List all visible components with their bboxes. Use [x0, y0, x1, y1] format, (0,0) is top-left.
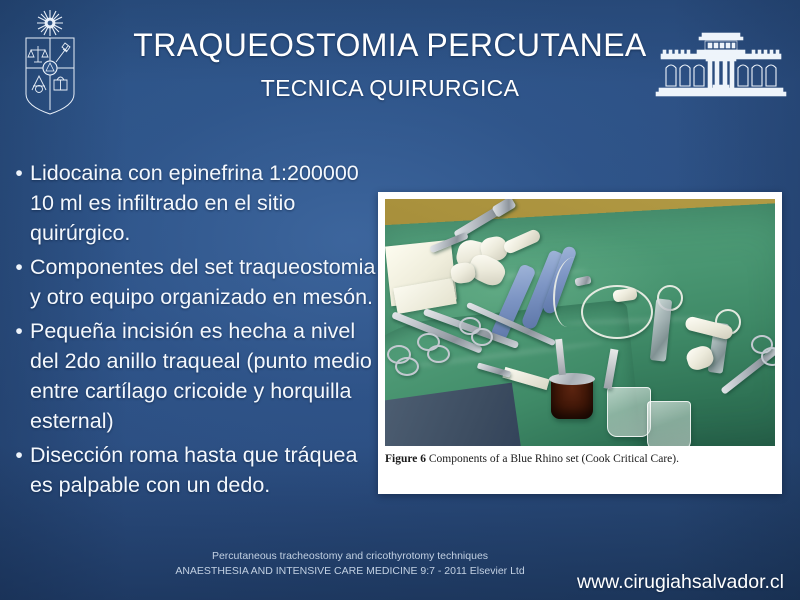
- photo-glass-cup: [607, 387, 651, 437]
- list-item: • Lidocaina con epinefrina 1:200000 10 m…: [8, 158, 380, 248]
- title-block: TRAQUEOSTOMIA PERCUTANEA TECNICA QUIRURG…: [120, 26, 660, 103]
- list-item-text: Lidocaina con epinefrina 1:200000 10 ml …: [30, 158, 380, 248]
- list-item: • Pequeña incisión es hecha a nivel del …: [8, 316, 380, 436]
- photo-iodine-cup-rim: [549, 373, 595, 385]
- figure-card: Figure 6 Components of a Blue Rhino set …: [378, 192, 782, 494]
- presentation-slide: TRAQUEOSTOMIA PERCUTANEA TECNICA QUIRURG…: [0, 0, 800, 600]
- bullet-marker-icon: •: [8, 252, 30, 283]
- figure-caption-text: Components of a Blue Rhino set (Cook Cri…: [429, 453, 679, 465]
- list-item-text: Pequeña incisión es hecha a nivel del 2d…: [30, 316, 380, 436]
- bullet-list: • Lidocaina con epinefrina 1:200000 10 m…: [8, 158, 380, 504]
- figure-caption: Figure 6 Components of a Blue Rhino set …: [385, 452, 775, 467]
- page-subtitle: TECNICA QUIRURGICA: [120, 73, 660, 103]
- figure-photo: [385, 199, 775, 446]
- bullet-marker-icon: •: [8, 440, 30, 471]
- source-citation-line-1: Percutaneous tracheostomy and cricothyro…: [100, 549, 600, 564]
- source-citation-line-2: ANAESTHESIA AND INTENSIVE CARE MEDICINE …: [100, 564, 600, 579]
- page-title: TRAQUEOSTOMIA PERCUTANEA: [120, 26, 660, 64]
- list-item-text: Componentes del set traqueostomia y otro…: [30, 252, 380, 312]
- list-item: • Disección roma hasta que tráquea es pa…: [8, 440, 380, 500]
- photo-forceps-ring: [427, 345, 450, 363]
- bullet-marker-icon: •: [8, 158, 30, 189]
- list-item: • Componentes del set traqueostomia y ot…: [8, 252, 380, 312]
- figure-caption-label: Figure 6: [385, 453, 429, 465]
- photo-hemostat-ring: [395, 357, 419, 376]
- list-item-text: Disección roma hasta que tráquea es palp…: [30, 440, 380, 500]
- slide-header: TRAQUEOSTOMIA PERCUTANEA TECNICA QUIRURG…: [0, 0, 800, 126]
- bullet-marker-icon: •: [8, 316, 30, 347]
- source-citation: Percutaneous tracheostomy and cricothyro…: [100, 549, 600, 579]
- photo-scissors-ring: [471, 328, 493, 346]
- photo-glass-cup: [647, 401, 691, 446]
- universidad-de-chile-crest-icon: [16, 6, 84, 118]
- casa-central-building-icon: [653, 28, 789, 100]
- website-url: www.cirugiahsalvador.cl: [577, 570, 784, 594]
